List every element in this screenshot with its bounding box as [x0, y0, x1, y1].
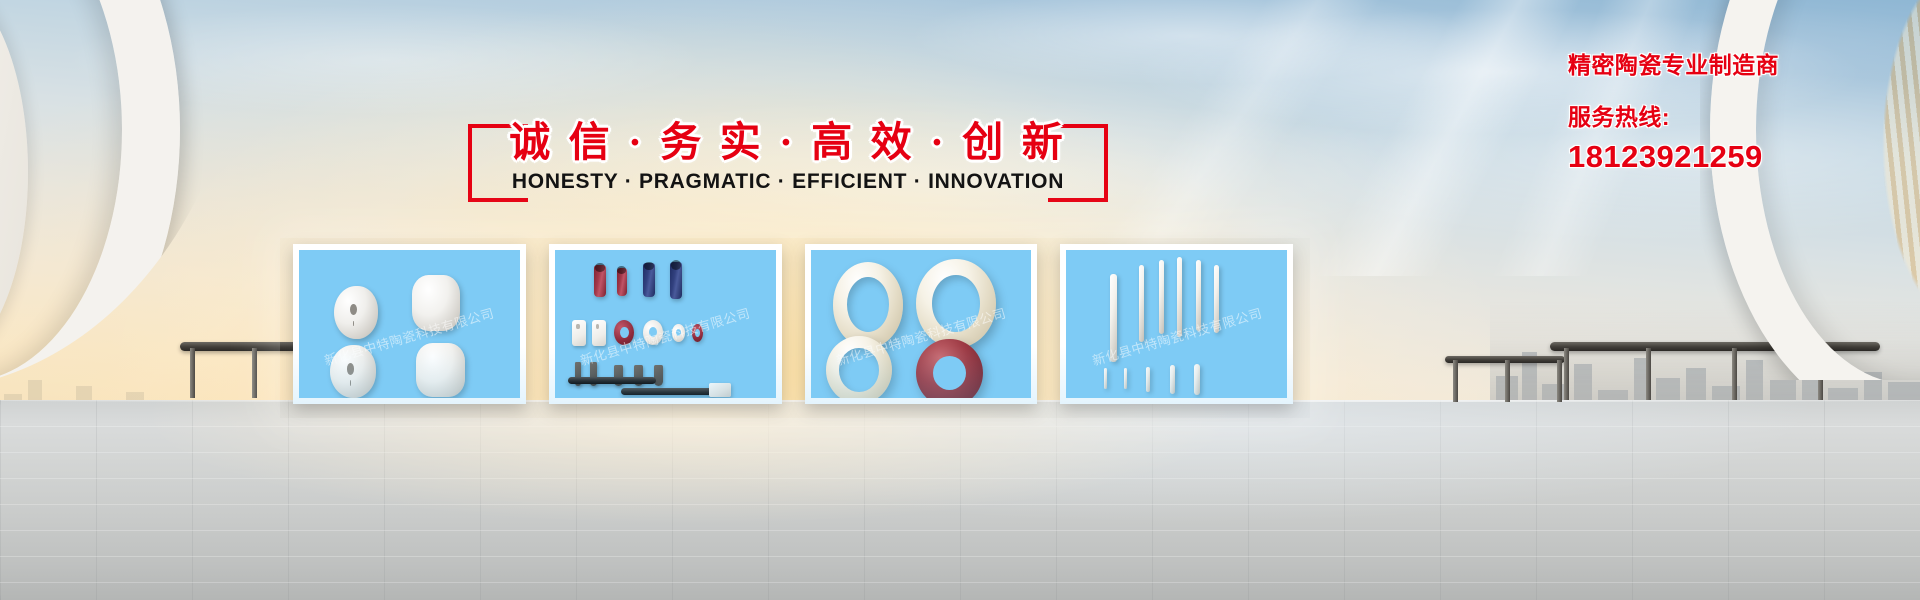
contact-block: 精密陶瓷专业制造商 服务热线: 18123921259	[1568, 52, 1898, 175]
product-photo-ceramic-rods: 新化县中特陶瓷科技有限公司	[1066, 250, 1287, 398]
product-panel-row: 新化县中特陶瓷科技有限公司	[293, 244, 1293, 404]
slogan-chinese: 诚 信 · 务 实 · 高 效 · 创 新	[468, 108, 1108, 168]
railing-right-inner	[1445, 352, 1565, 442]
hotline-label: 服务热线:	[1568, 98, 1898, 132]
promotional-banner: 诚 信 · 务 实 · 高 效 · 创 新 HONESTY · PRAGMATI…	[0, 0, 1920, 600]
slogan-block: 诚 信 · 务 实 · 高 效 · 创 新 HONESTY · PRAGMATI…	[468, 104, 1108, 204]
product-panel-4[interactable]: 新化县中特陶瓷科技有限公司	[1060, 244, 1293, 404]
product-photo-tubes-rings: 新化县中特陶瓷科技有限公司	[555, 250, 776, 398]
slogan-english: HONESTY · PRAGMATIC · EFFICIENT · INNOVA…	[468, 170, 1108, 194]
product-panel-1[interactable]: 新化县中特陶瓷科技有限公司	[293, 244, 526, 404]
hotline-phone-number[interactable]: 18123921259	[1568, 139, 1898, 175]
product-photo-ceramic-rings: 新化县中特陶瓷科技有限公司	[811, 250, 1032, 398]
bracket-bottom-left-horizontal	[468, 198, 528, 202]
bracket-bottom-right-horizontal	[1048, 198, 1108, 202]
product-panel-3[interactable]: 新化县中特陶瓷科技有限公司	[805, 244, 1038, 404]
company-tagline: 精密陶瓷专业制造商	[1568, 52, 1898, 80]
product-photo-insulators: 新化县中特陶瓷科技有限公司	[299, 250, 520, 398]
product-panel-2[interactable]: 新化县中特陶瓷科技有限公司	[549, 244, 782, 404]
